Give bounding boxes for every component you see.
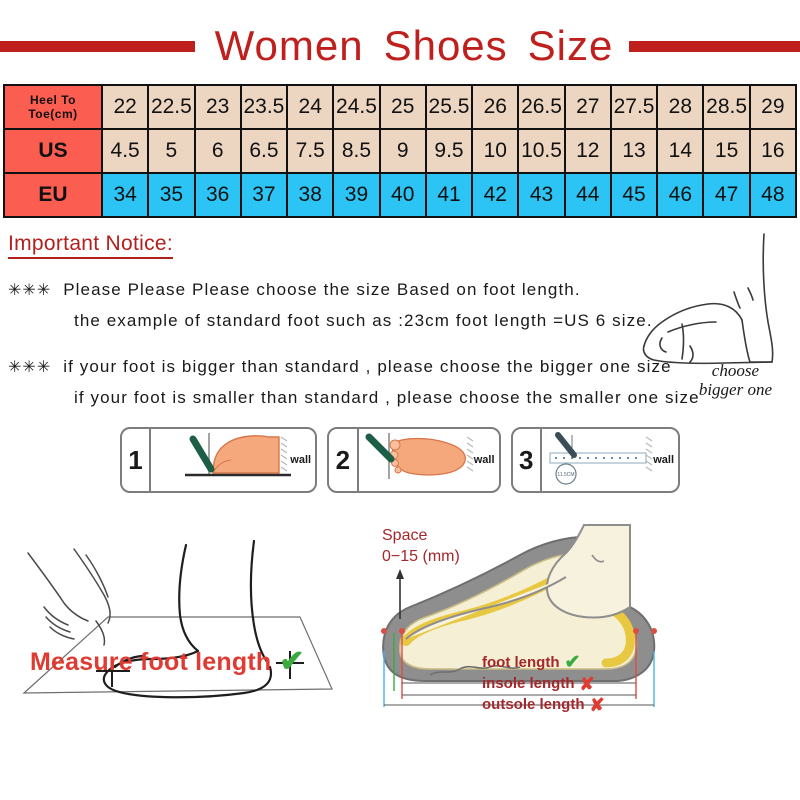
title-word-3: Size bbox=[518, 22, 624, 69]
cell-cm-11: 27.5 bbox=[611, 85, 657, 129]
bottom-illustrations: Measure foot length ✔ bbox=[0, 511, 800, 721]
cell-eu-8: 42 bbox=[472, 173, 518, 217]
step-panel-2: 2 wall bbox=[327, 427, 500, 493]
cell-cm-12: 28 bbox=[657, 85, 703, 129]
cell-eu-11: 45 bbox=[611, 173, 657, 217]
cell-eu-5: 39 bbox=[333, 173, 379, 217]
step-number-2: 2 bbox=[329, 429, 358, 491]
cell-cm-14: 29 bbox=[750, 85, 796, 129]
step-panel-3: 3 11.5CM wall bbox=[511, 427, 681, 493]
green-check-icon: ✔ bbox=[279, 647, 304, 677]
space-label-line-2: 0−15 (mm) bbox=[382, 546, 460, 567]
length-legend: foot length ✔ insole length ✘ outsole le… bbox=[482, 652, 605, 715]
legend-item-foot-length: foot length ✔ bbox=[482, 652, 605, 673]
table-row: Heel To Toe(cm) 22 22.5 23 23.5 24 24.5 … bbox=[4, 85, 796, 129]
legend-item-outsole-length: outsole length ✘ bbox=[482, 694, 605, 715]
notice-title: Important Notice: bbox=[8, 232, 173, 259]
page-title: WomenShoesSize bbox=[205, 22, 624, 70]
sketch-caption: choose bigger one bbox=[699, 361, 772, 399]
asterisk-marker-2: ✳✳✳ bbox=[8, 359, 63, 376]
legend-label-outsole-length: outsole length bbox=[482, 694, 585, 715]
important-notice-section: Important Notice: ✳✳✳Please Please Pleas… bbox=[0, 232, 800, 413]
shoe-size-table: Heel To Toe(cm) 22 22.5 23 23.5 24 24.5 … bbox=[3, 84, 797, 218]
space-label: Space 0−15 (mm) bbox=[382, 525, 460, 567]
notice-line-3-text: if your foot is bigger than standard , p… bbox=[63, 357, 671, 376]
legend-label-insole-length: insole length bbox=[482, 673, 575, 694]
cell-eu-0: 34 bbox=[102, 173, 148, 217]
cell-eu-10: 44 bbox=[565, 173, 611, 217]
cross-icon: ✘ bbox=[590, 696, 605, 714]
step-number-1: 1 bbox=[122, 429, 151, 491]
page-title-bar: WomenShoesSize bbox=[0, 0, 800, 78]
cell-cm-2: 23 bbox=[195, 85, 241, 129]
cell-eu-14: 48 bbox=[750, 173, 796, 217]
wall-label-2: wall bbox=[474, 454, 495, 466]
cell-us-10: 12 bbox=[565, 129, 611, 173]
cell-eu-6: 40 bbox=[380, 173, 426, 217]
space-label-line-1: Space bbox=[382, 525, 460, 546]
title-word-2: Shoes bbox=[374, 22, 518, 69]
row-label-eu: EU bbox=[4, 173, 102, 217]
cell-cm-3: 23.5 bbox=[241, 85, 287, 129]
cell-cm-1: 22.5 bbox=[148, 85, 194, 129]
cell-eu-1: 35 bbox=[148, 173, 194, 217]
cell-us-3: 6.5 bbox=[241, 129, 287, 173]
cell-cm-5: 24.5 bbox=[333, 85, 379, 129]
cell-cm-10: 27 bbox=[565, 85, 611, 129]
cell-us-11: 13 bbox=[611, 129, 657, 173]
cell-cm-13: 28.5 bbox=[703, 85, 749, 129]
cell-eu-4: 38 bbox=[287, 173, 333, 217]
svg-text:11.5CM: 11.5CM bbox=[557, 472, 574, 478]
cell-us-14: 16 bbox=[750, 129, 796, 173]
cell-us-7: 9.5 bbox=[426, 129, 472, 173]
cell-eu-12: 46 bbox=[657, 173, 703, 217]
asterisk-marker-1: ✳✳✳ bbox=[8, 282, 63, 299]
sketch-caption-line-1: choose bbox=[699, 361, 772, 380]
cell-us-5: 8.5 bbox=[333, 129, 379, 173]
cell-us-4: 7.5 bbox=[287, 129, 333, 173]
cell-eu-2: 36 bbox=[195, 173, 241, 217]
hand-tracing-foot-icon bbox=[0, 511, 370, 711]
wall-label-3: wall bbox=[653, 454, 674, 466]
step-panel-1: 1 wall bbox=[120, 427, 317, 493]
cell-us-9: 10.5 bbox=[518, 129, 564, 173]
cell-us-8: 10 bbox=[472, 129, 518, 173]
cell-cm-0: 22 bbox=[102, 85, 148, 129]
title-rule-left bbox=[0, 41, 195, 52]
cross-icon: ✘ bbox=[580, 675, 595, 693]
cell-cm-8: 26 bbox=[472, 85, 518, 129]
cell-us-1: 5 bbox=[148, 129, 194, 173]
shoe-cross-section-illustration: Space 0−15 (mm) foot length ✔ insole len… bbox=[370, 511, 800, 721]
wall-label-1: wall bbox=[290, 454, 311, 466]
foot-side-sketch-icon: choose bigger one bbox=[638, 226, 794, 401]
cell-eu-13: 47 bbox=[703, 173, 749, 217]
cell-cm-9: 26.5 bbox=[518, 85, 564, 129]
cell-cm-6: 25 bbox=[380, 85, 426, 129]
cell-eu-9: 43 bbox=[518, 173, 564, 217]
legend-label-foot-length: foot length bbox=[482, 652, 559, 673]
size-table-body: Heel To Toe(cm) 22 22.5 23 23.5 24 24.5 … bbox=[4, 85, 796, 217]
step-number-3: 3 bbox=[513, 429, 543, 491]
step-3-illustration: 11.5CM wall bbox=[542, 429, 678, 491]
cell-us-13: 15 bbox=[703, 129, 749, 173]
measure-foot-caption: Measure foot length ✔ bbox=[30, 647, 305, 677]
sketch-caption-line-2: bigger one bbox=[699, 380, 772, 399]
cell-us-12: 14 bbox=[657, 129, 703, 173]
cell-us-6: 9 bbox=[380, 129, 426, 173]
legend-item-insole-length: insole length ✘ bbox=[482, 673, 605, 694]
cell-eu-3: 37 bbox=[241, 173, 287, 217]
title-rule-right bbox=[629, 41, 800, 52]
cell-cm-7: 25.5 bbox=[426, 85, 472, 129]
step-1-illustration: wall bbox=[151, 429, 315, 491]
row-label-heel-to-toe: Heel To Toe(cm) bbox=[4, 85, 102, 129]
check-icon: ✔ bbox=[564, 653, 580, 672]
step-2-illustration: wall bbox=[359, 429, 499, 491]
measure-foot-illustration: Measure foot length ✔ bbox=[0, 511, 370, 721]
title-word-1: Women bbox=[205, 22, 374, 69]
table-row: US 4.5 5 6 6.5 7.5 8.5 9 9.5 10 10.5 12 … bbox=[4, 129, 796, 173]
cell-us-2: 6 bbox=[195, 129, 241, 173]
measure-foot-caption-text: Measure foot length bbox=[30, 648, 271, 677]
notice-line-1-text: Please Please Please choose the size Bas… bbox=[63, 280, 580, 299]
row-label-us: US bbox=[4, 129, 102, 173]
cell-us-0: 4.5 bbox=[102, 129, 148, 173]
table-row: EU 34 35 36 37 38 39 40 41 42 43 44 45 4… bbox=[4, 173, 796, 217]
cell-cm-4: 24 bbox=[287, 85, 333, 129]
measurement-steps: 1 wall 2 bbox=[120, 427, 680, 493]
cell-eu-7: 41 bbox=[426, 173, 472, 217]
